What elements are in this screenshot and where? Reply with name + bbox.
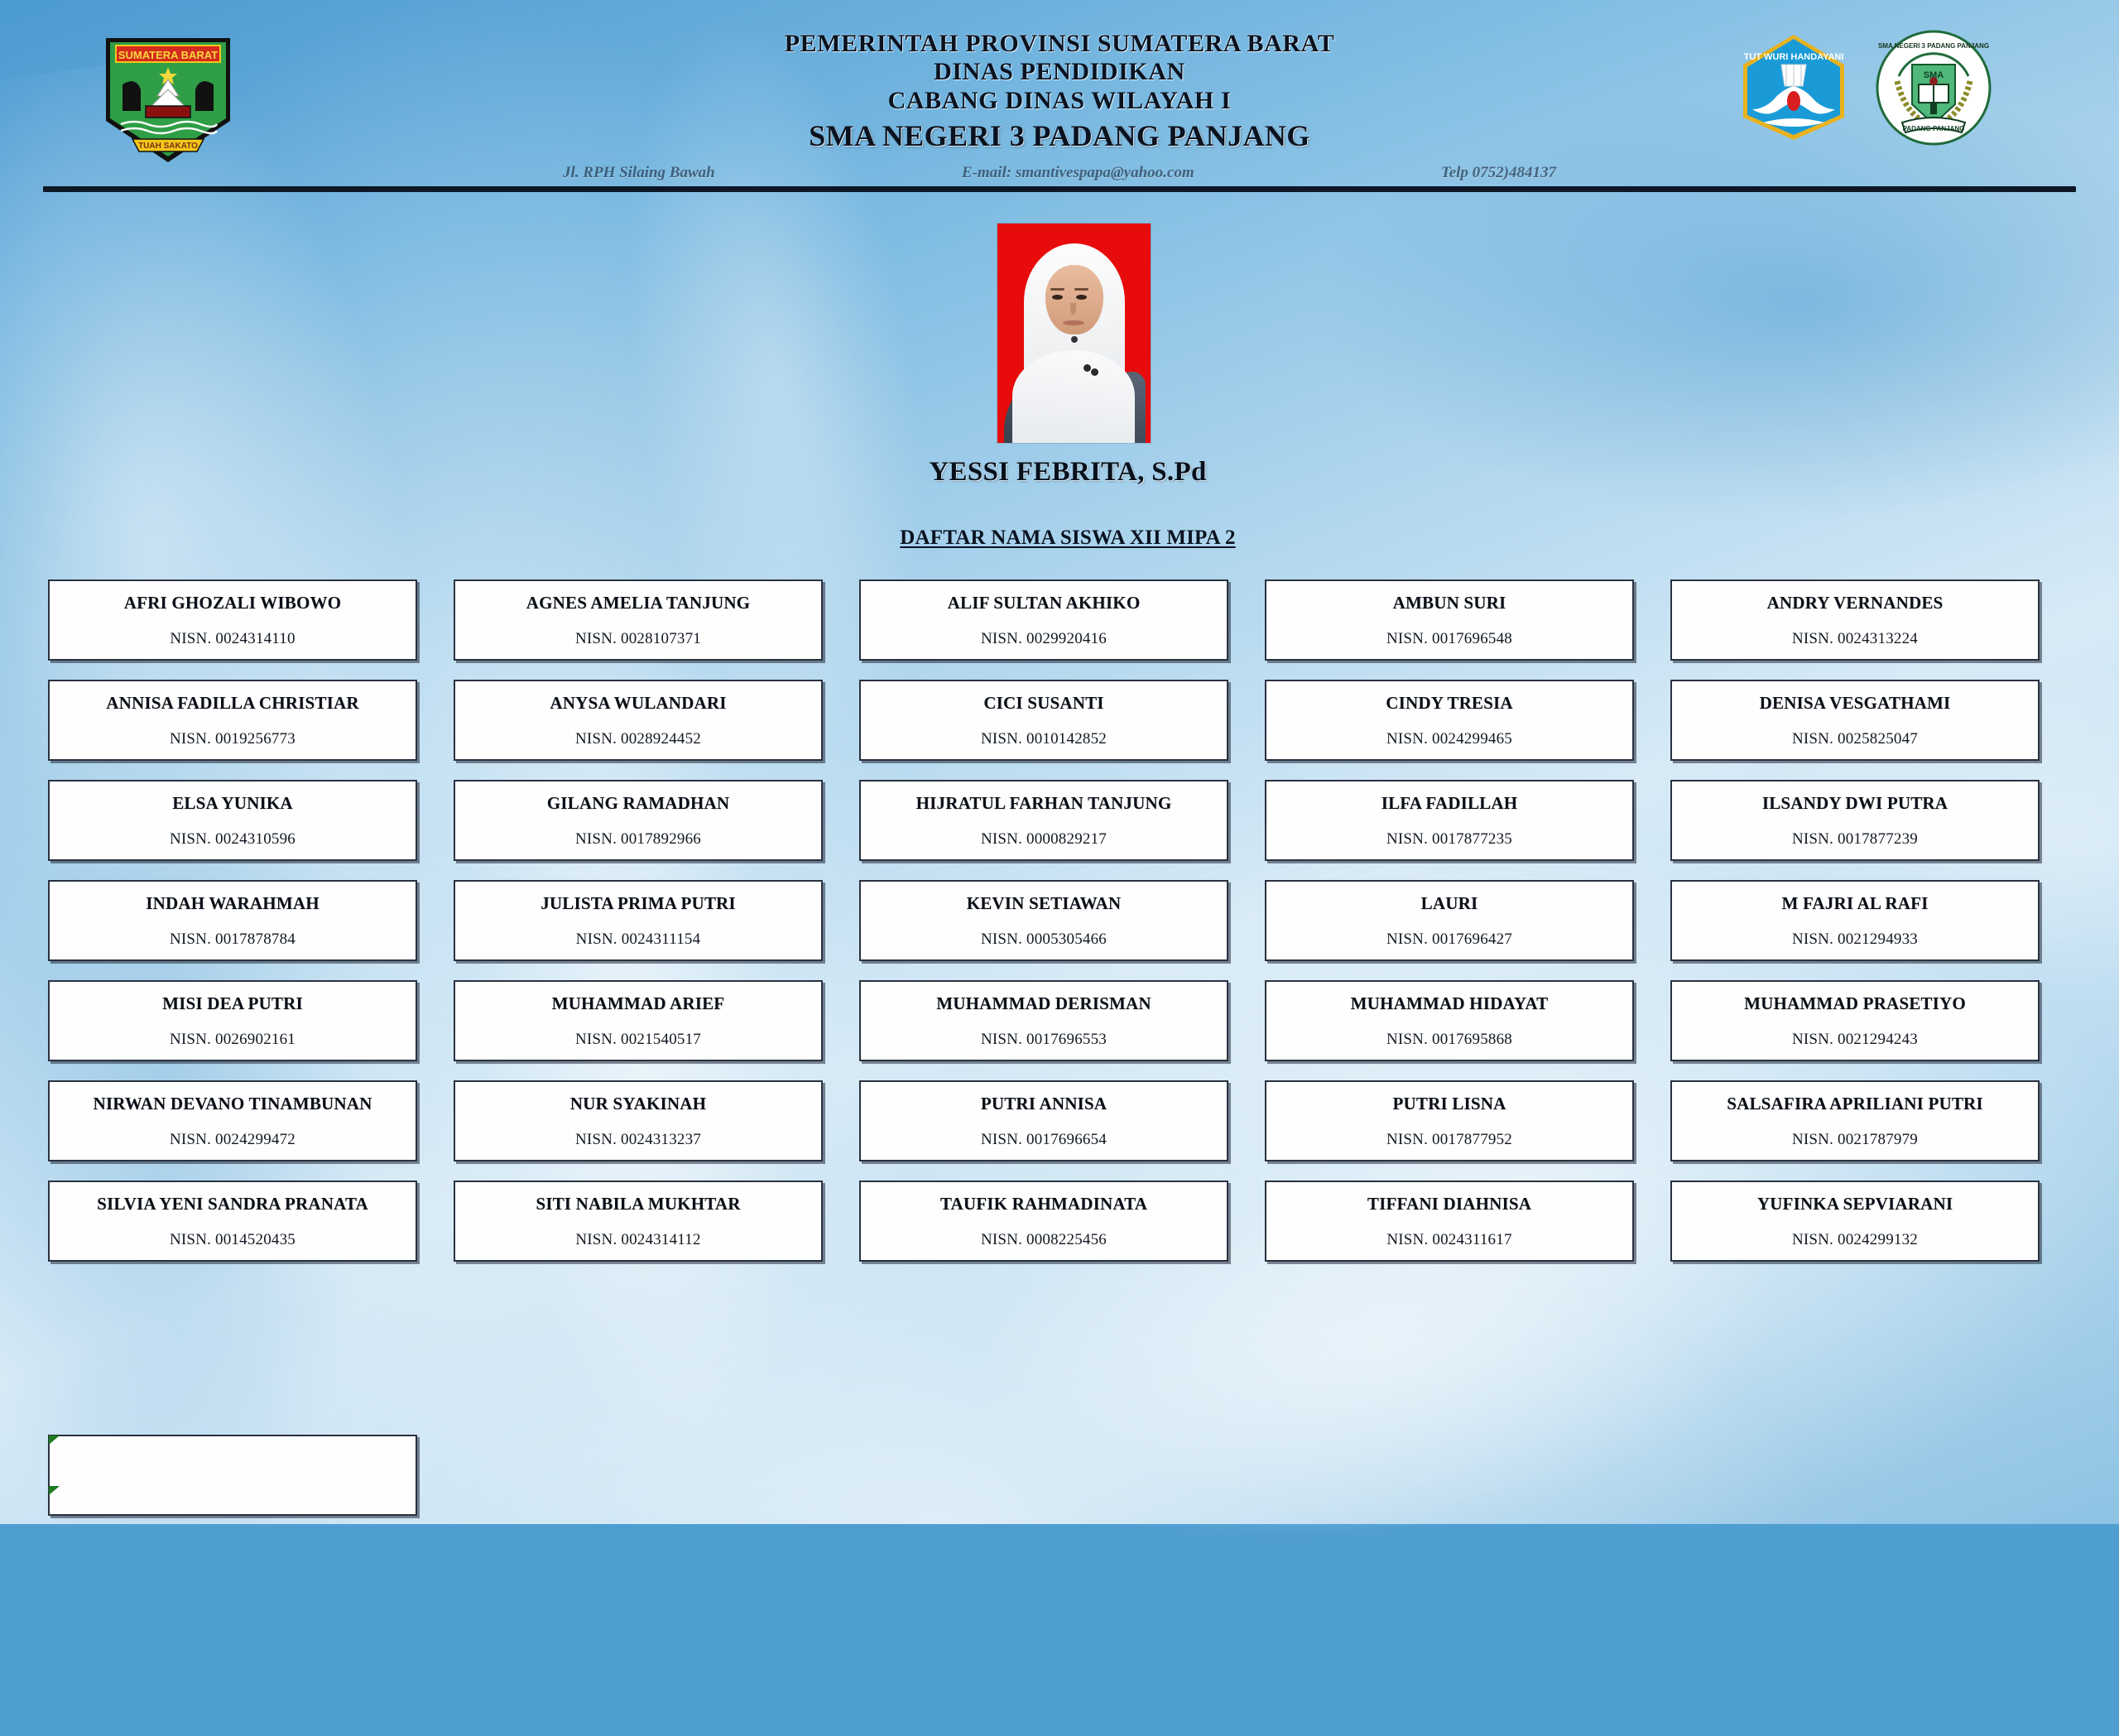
student-name: PUTRI ANNISA: [974, 1094, 1113, 1113]
student-nisn: NISN. 0025825047: [1792, 730, 1918, 748]
student-cell: CINDY TRESIANISN. 0024299465: [1265, 680, 1634, 761]
student-cell: MUHAMMAD ARIEFNISN. 0021540517: [454, 980, 823, 1061]
student-card[interactable]: ILSANDY DWI PUTRANISN. 0017877239: [1670, 780, 2040, 861]
student-card[interactable]: SILVIA YENI SANDRA PRANATANISN. 00145204…: [48, 1181, 417, 1262]
branch-line: CABANG DINAS WILAYAH I: [563, 86, 1556, 115]
student-nisn: NISN. 0021294243: [1792, 1031, 1918, 1049]
student-cell: PUTRI LISNANISN. 0017877952: [1265, 1080, 1634, 1161]
student-name: M FAJRI AL RAFI: [1775, 893, 1934, 913]
student-cell: DENISA VESGATHAMINISN. 0025825047: [1670, 680, 2040, 761]
student-cell: MUHAMMAD PRASETIYONISN. 0021294243: [1670, 980, 2040, 1061]
student-card[interactable]: AMBUN SURINISN. 0017696548: [1265, 579, 1634, 661]
student-card[interactable]: YUFINKA SEPVIARANINISN. 0024299132: [1670, 1181, 2040, 1262]
student-nisn: NISN. 0028107371: [575, 630, 701, 648]
student-card[interactable]: AGNES AMELIA TANJUNGNISN. 0028107371: [454, 579, 823, 661]
portrait-chin-pin: [1071, 336, 1078, 343]
portrait-eye-right: [1076, 295, 1087, 300]
student-nisn: NISN. 0024310596: [170, 830, 296, 849]
student-nisn: NISN. 0029920416: [981, 630, 1107, 648]
student-cell: ANDRY VERNANDESNISN. 0024313224: [1670, 579, 2040, 661]
student-cell: ALIF SULTAN AKHIKONISN. 0029920416: [859, 579, 1228, 661]
student-cell: TAUFIK RAHMADINATANISN. 0008225456: [859, 1181, 1228, 1262]
student-nisn: NISN. 0017892966: [575, 830, 701, 849]
student-card[interactable]: ELSA YUNIKANISN. 0024310596: [48, 780, 417, 861]
page-title: DAFTAR NAMA SISWA XII MIPA 2: [737, 527, 1399, 550]
svg-text:SMA NEGERI 3 PADANG PANJANG: SMA NEGERI 3 PADANG PANJANG: [1878, 42, 1989, 50]
student-cell: ANYSA WULANDARINISN. 0028924452: [454, 680, 823, 761]
letterhead: SUMATERA BARAT TUAH SAKATO TUT WURI HAND…: [0, 0, 2119, 192]
portrait-brow-left: [1050, 288, 1064, 291]
student-cell: SITI NABILA MUKHTARNISN. 0024314112: [454, 1181, 823, 1262]
student-row: SILVIA YENI SANDRA PRANATANISN. 00145204…: [48, 1181, 2078, 1262]
student-cell: ANNISA FADILLA CHRISTIARNISN. 0019256773: [48, 680, 417, 761]
student-cell: ILSANDY DWI PUTRANISN. 0017877239: [1670, 780, 2040, 861]
student-card[interactable]: AFRI GHOZALI WIBOWONISN. 0024314110: [48, 579, 417, 661]
student-name: AMBUN SURI: [1386, 593, 1513, 613]
student-name: YUFINKA SEPVIARANI: [1751, 1194, 1959, 1214]
student-name: AGNES AMELIA TANJUNG: [520, 593, 757, 613]
student-name: HIJRATUL FARHAN TANJUNG: [910, 793, 1179, 813]
student-nisn: NISN. 0017877952: [1386, 1131, 1512, 1149]
student-card[interactable]: GILANG RAMADHANNISN. 0017892966: [454, 780, 823, 861]
student-name: ALIF SULTAN AKHIKO: [941, 593, 1147, 613]
student-name: ANYSA WULANDARI: [543, 693, 733, 713]
school-phone: Telp 0752)484137: [1441, 164, 1556, 182]
student-cell: NIRWAN DEVANO TINAMBUNANNISN. 0024299472: [48, 1080, 417, 1161]
student-cell: MUHAMMAD HIDAYATNISN. 0017695868: [1265, 980, 1634, 1061]
page-root: SUMATERA BARAT TUAH SAKATO TUT WURI HAND…: [0, 0, 2119, 1524]
student-name: JULISTA PRIMA PUTRI: [534, 893, 742, 913]
student-name: MISI DEA PUTRI: [156, 993, 310, 1013]
school-emblem-icon: SMA NEGERI 3 PADANG PANJANG SMA PADANG P…: [1872, 26, 1995, 149]
header-divider: [43, 186, 2076, 192]
student-name: TAUFIK RAHMADINATA: [934, 1194, 1154, 1214]
student-name: MUHAMMAD DERISMAN: [930, 993, 1157, 1013]
student-cell: AGNES AMELIA TANJUNGNISN. 0028107371: [454, 579, 823, 661]
student-card[interactable]: SALSAFIRA APRILIANI PUTRINISN. 002178797…: [1670, 1080, 2040, 1161]
student-name: CINDY TRESIA: [1379, 693, 1520, 713]
student-cell: ILFA FADILLAHNISN. 0017877235: [1265, 780, 1634, 861]
student-cell: M FAJRI AL RAFINISN. 0021294933: [1670, 880, 2040, 961]
student-card[interactable]: ALIF SULTAN AKHIKONISN. 0029920416: [859, 579, 1228, 661]
student-nisn: NISN. 0005305466: [981, 931, 1107, 949]
student-name: NUR SYAKINAH: [564, 1094, 713, 1113]
student-name: MUHAMMAD HIDAYAT: [1344, 993, 1555, 1013]
letterhead-contact: Jl. RPH Silaing Bawah E-mail: smantivesp…: [563, 162, 1556, 184]
student-nisn: NISN. 0024299132: [1792, 1231, 1918, 1249]
student-name: NIRWAN DEVANO TINAMBUNAN: [87, 1094, 379, 1113]
student-card[interactable]: JULISTA PRIMA PUTRINISN. 0024311154: [454, 880, 823, 961]
teacher-photo: [997, 224, 1151, 443]
student-cell: ELSA YUNIKANISN. 0024310596: [48, 780, 417, 861]
student-name: CICI SUSANTI: [977, 693, 1110, 713]
student-cell: GILANG RAMADHANNISN. 0017892966: [454, 780, 823, 861]
student-cell: JULISTA PRIMA PUTRINISN. 0024311154: [454, 880, 823, 961]
student-card[interactable]: KEVIN SETIAWANNISN. 0005305466: [859, 880, 1228, 961]
student-card[interactable]: M FAJRI AL RAFINISN. 0021294933: [1670, 880, 2040, 961]
student-nisn: NISN. 0017696548: [1386, 630, 1512, 648]
sumatera-barat-emblem-icon: SUMATERA BARAT TUAH SAKATO: [98, 31, 238, 168]
student-cell: PUTRI ANNISANISN. 0017696654: [859, 1080, 1228, 1161]
student-name: PUTRI LISNA: [1386, 1094, 1513, 1113]
student-name: DENISA VESGATHAMI: [1753, 693, 1958, 713]
student-name: SALSAFIRA APRILIANI PUTRI: [1720, 1094, 1990, 1113]
government-line: PEMERINTAH PROVINSI SUMATERA BARAT: [563, 30, 1556, 57]
student-cell: AMBUN SURINISN. 0017696548: [1265, 579, 1634, 661]
portrait-mouth: [1063, 320, 1084, 325]
portrait-eye-left: [1052, 295, 1063, 300]
student-card[interactable]: ANDRY VERNANDESNISN. 0024313224: [1670, 579, 2040, 661]
student-nisn: NISN. 0028924452: [575, 730, 701, 748]
student-nisn: NISN. 0017696553: [981, 1031, 1107, 1049]
student-nisn: NISN. 0017695868: [1386, 1031, 1512, 1049]
student-card[interactable]: TAUFIK RAHMADINATANISN. 0008225456: [859, 1181, 1228, 1262]
svg-text:SUMATERA BARAT: SUMATERA BARAT: [118, 49, 218, 61]
student-nisn: NISN. 0021787979: [1792, 1131, 1918, 1149]
student-nisn: NISN. 0017878784: [170, 931, 296, 949]
student-nisn: NISN. 0024311617: [1386, 1231, 1511, 1249]
school-address: Jl. RPH Silaing Bawah: [563, 164, 715, 182]
student-card[interactable]: HIJRATUL FARHAN TANJUNGNISN. 0000829217: [859, 780, 1228, 861]
student-row: MISI DEA PUTRINISN. 0026902161MUHAMMAD A…: [48, 980, 2078, 1061]
student-nisn: NISN. 0019256773: [170, 730, 296, 748]
student-card[interactable]: SITI NABILA MUKHTARNISN. 0024314112: [454, 1181, 823, 1262]
student-card[interactable]: ILFA FADILLAHNISN. 0017877235: [1265, 780, 1634, 861]
student-card[interactable]: MUHAMMAD PRASETIYONISN. 0021294243: [1670, 980, 2040, 1061]
portrait-brow-right: [1074, 288, 1088, 291]
student-row: ELSA YUNIKANISN. 0024310596GILANG RAMADH…: [48, 780, 2078, 861]
student-name: SILVIA YENI SANDRA PRANATA: [90, 1194, 375, 1214]
portrait-nose: [1070, 303, 1076, 315]
svg-text:PADANG PANJANG: PADANG PANJANG: [1903, 125, 1965, 132]
student-name: KEVIN SETIAWAN: [960, 893, 1128, 913]
student-card[interactable]: NIRWAN DEVANO TINAMBUNANNISN. 0024299472: [48, 1080, 417, 1161]
student-card[interactable]: TIFFANI DIAHNISANISN. 0024311617: [1265, 1181, 1634, 1262]
student-card[interactable]: CINDY TRESIANISN. 0024299465: [1265, 680, 1634, 761]
student-card[interactable]: CICI SUSANTINISN. 0010142852: [859, 680, 1228, 761]
student-card[interactable]: MUHAMMAD HIDAYATNISN. 0017695868: [1265, 980, 1634, 1061]
student-cell: MUHAMMAD DERISMANNISN. 0017696553: [859, 980, 1228, 1061]
student-nisn: NISN. 0024299465: [1386, 730, 1512, 748]
svg-text:TUT WURI HANDAYANI: TUT WURI HANDAYANI: [1744, 52, 1844, 62]
student-row: ANNISA FADILLA CHRISTIARNISN. 0019256773…: [48, 680, 2078, 761]
green-marker-icon: [49, 1435, 60, 1445]
student-cell: YUFINKA SEPVIARANINISN. 0024299132: [1670, 1181, 2040, 1262]
student-nisn: NISN. 0010142852: [981, 730, 1107, 748]
student-name: TIFFANI DIAHNISA: [1361, 1194, 1538, 1214]
student-cell: CICI SUSANTINISN. 0010142852: [859, 680, 1228, 761]
student-cell: AFRI GHOZALI WIBOWONISN. 0024314110: [48, 579, 417, 661]
student-card[interactable]: PUTRI ANNISANISN. 0017696654: [859, 1080, 1228, 1161]
student-card[interactable]: INDAH WARAHMAHNISN. 0017878784: [48, 880, 417, 961]
student-nisn: NISN. 0024299472: [170, 1131, 296, 1149]
student-name: ANNISA FADILLA CHRISTIAR: [99, 693, 365, 713]
student-card[interactable]: LAURINISN. 0017696427: [1265, 880, 1634, 961]
student-card[interactable]: ANYSA WULANDARINISN. 0028924452: [454, 680, 823, 761]
school-email: E-mail: smantivespapa@yahoo.com: [962, 164, 1194, 182]
student-row: AFRI GHOZALI WIBOWONISN. 0024314110AGNES…: [48, 579, 2078, 661]
tut-wuri-handayani-logo-icon: TUT WURI HANDAYANI: [1738, 31, 1850, 143]
student-card[interactable]: DENISA VESGATHAMINISN. 0025825047: [1670, 680, 2040, 761]
student-nisn: NISN. 0024313237: [575, 1131, 701, 1149]
empty-card-slot: [48, 1435, 417, 1516]
student-cell: LAURINISN. 0017696427: [1265, 880, 1634, 961]
student-cell: NUR SYAKINAHNISN. 0024313237: [454, 1080, 823, 1161]
student-name: ILSANDY DWI PUTRA: [1756, 793, 1954, 813]
student-nisn: NISN. 0000829217: [981, 830, 1107, 849]
student-name: INDAH WARAHMAH: [139, 893, 326, 913]
portrait-brooch: [1084, 364, 1100, 377]
student-cell: SILVIA YENI SANDRA PRANATANISN. 00145204…: [48, 1181, 417, 1262]
student-cell: INDAH WARAHMAHNISN. 0017878784: [48, 880, 417, 961]
student-row: NIRWAN DEVANO TINAMBUNANNISN. 0024299472…: [48, 1080, 2078, 1161]
student-nisn: NISN. 0008225456: [981, 1231, 1107, 1249]
student-cell: TIFFANI DIAHNISANISN. 0024311617: [1265, 1181, 1634, 1262]
student-cell: KEVIN SETIAWANNISN. 0005305466: [859, 880, 1228, 961]
student-nisn: NISN. 0017696427: [1386, 931, 1512, 949]
student-name: GILANG RAMADHAN: [541, 793, 737, 813]
teacher-photo-frame: [997, 224, 1151, 443]
student-row: INDAH WARAHMAHNISN. 0017878784JULISTA PR…: [48, 880, 2078, 961]
student-card[interactable]: NUR SYAKINAHNISN. 0024313237: [454, 1080, 823, 1161]
student-nisn: NISN. 0014520435: [170, 1231, 296, 1249]
student-cell: SALSAFIRA APRILIANI PUTRINISN. 002178797…: [1670, 1080, 2040, 1161]
student-nisn: NISN. 0024313224: [1792, 630, 1918, 648]
student-nisn: NISN. 0017696654: [981, 1131, 1107, 1149]
student-nisn: NISN. 0017877235: [1386, 830, 1512, 849]
teacher-name: YESSI FEBRITA, S.Pd: [737, 457, 1399, 488]
student-nisn: NISN. 0021294933: [1792, 931, 1918, 949]
student-name: ELSA YUNIKA: [166, 793, 300, 813]
svg-text:TUAH SAKATO: TUAH SAKATO: [138, 142, 198, 151]
student-name: MUHAMMAD PRASETIYO: [1737, 993, 1972, 1013]
student-name: ANDRY VERNANDES: [1761, 593, 1950, 613]
student-name: SITI NABILA MUKHTAR: [529, 1194, 747, 1214]
school-name: SMA NEGERI 3 PADANG PANJANG: [563, 118, 1556, 153]
student-nisn: NISN. 0021540517: [575, 1031, 701, 1049]
department-line: DINAS PENDIDIKAN: [563, 57, 1556, 86]
student-cell: MISI DEA PUTRINISN. 0026902161: [48, 980, 417, 1061]
student-card[interactable]: ANNISA FADILLA CHRISTIARNISN. 0019256773: [48, 680, 417, 761]
student-nisn: NISN. 0024314110: [170, 630, 295, 648]
student-name: MUHAMMAD ARIEF: [545, 993, 732, 1013]
portrait-hijab-drape: [1012, 350, 1135, 443]
student-name: AFRI GHOZALI WIBOWO: [118, 593, 348, 613]
student-nisn: NISN. 0017877239: [1792, 830, 1918, 849]
student-card[interactable]: PUTRI LISNANISN. 0017877952: [1265, 1080, 1634, 1161]
student-nisn: NISN. 0024311154: [576, 931, 701, 949]
student-card[interactable]: MISI DEA PUTRINISN. 0026902161: [48, 980, 417, 1061]
green-marker-icon: [49, 1486, 60, 1495]
page-title-text: DAFTAR NAMA SISWA XII MIPA 2: [900, 527, 1235, 549]
student-card-empty[interactable]: [48, 1435, 417, 1516]
student-cell: HIJRATUL FARHAN TANJUNGNISN. 0000829217: [859, 780, 1228, 861]
student-name: ILFA FADILLAH: [1375, 793, 1525, 813]
letterhead-text: PEMERINTAH PROVINSI SUMATERA BARAT DINAS…: [563, 30, 1556, 153]
student-nisn: NISN. 0026902161: [170, 1031, 296, 1049]
student-card[interactable]: MUHAMMAD ARIEFNISN. 0021540517: [454, 980, 823, 1061]
student-grid: AFRI GHOZALI WIBOWONISN. 0024314110AGNES…: [48, 579, 2078, 1281]
student-name: LAURI: [1415, 893, 1485, 913]
student-card[interactable]: MUHAMMAD DERISMANNISN. 0017696553: [859, 980, 1228, 1061]
student-nisn: NISN. 0024314112: [575, 1231, 700, 1249]
